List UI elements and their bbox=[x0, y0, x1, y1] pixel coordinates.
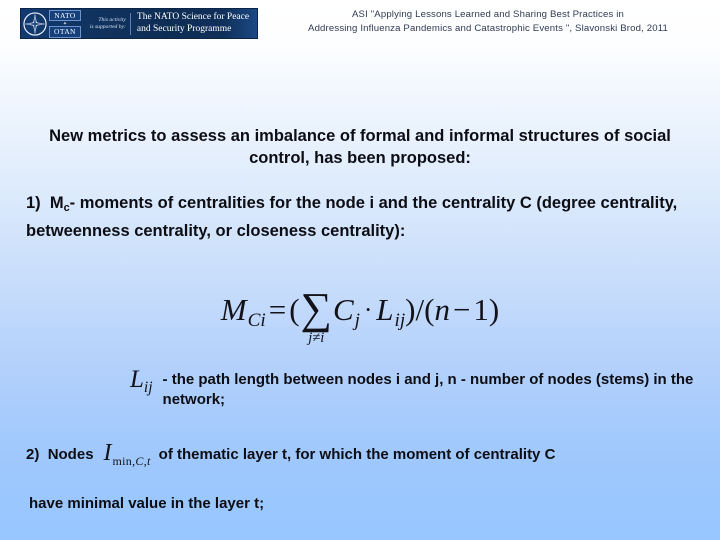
item1-symbol: Mc bbox=[45, 194, 69, 212]
imin-symbol: Imin,C,t bbox=[104, 440, 151, 469]
nato-otan-wordmark: NATO ✦ OTAN bbox=[49, 9, 81, 38]
slide-header: NATO ✦ OTAN This activity is supported b… bbox=[0, 0, 720, 52]
imin-sub-t: t bbox=[147, 454, 151, 468]
lij-definition-block: Lij - the path length between nodes i an… bbox=[130, 365, 710, 410]
programme-line-1: The NATO Science for Peace bbox=[137, 12, 258, 24]
formula-term-l-base: L bbox=[376, 290, 393, 330]
formula-row: MCi = ( ∑ j≠i Cj · Lij ) / ( n − 1 ) bbox=[221, 286, 500, 343]
item1-text: - moments of centralities for the node i… bbox=[26, 194, 677, 240]
sigma-icon: ∑ bbox=[301, 289, 332, 330]
lij-symbol-base: L bbox=[130, 366, 144, 393]
sigma-lower-limit: j≠i bbox=[308, 331, 324, 346]
item2-suffix-text: of thematic layer t, for which the momen… bbox=[159, 444, 556, 466]
formula-denominator-close-paren: ) bbox=[489, 290, 499, 330]
imin-sub-c: C bbox=[135, 454, 143, 468]
formula-equals: = bbox=[269, 290, 286, 330]
formula-term-c: Cj bbox=[333, 290, 360, 335]
list-item-1: 1) Mc- moments of centralities for the n… bbox=[26, 192, 698, 243]
lij-symbol: Lij bbox=[130, 365, 153, 397]
formula-term-l: Lij bbox=[376, 290, 405, 335]
programme-line-2: and Security Programme bbox=[137, 24, 258, 36]
formula-division-slash: / bbox=[415, 290, 424, 330]
formula-summation: ∑ j≠i bbox=[301, 289, 332, 346]
formula-close-paren: ) bbox=[405, 290, 415, 330]
imin-sub-min: min, bbox=[113, 454, 136, 468]
intro-paragraph: New metrics to assess an imbalance of fo… bbox=[28, 125, 692, 169]
nato-divider-star: ✦ bbox=[63, 22, 67, 26]
lij-definition-text: - the path length between nodes i and j,… bbox=[163, 365, 710, 410]
formula-denominator-minus: − bbox=[453, 290, 470, 330]
formula-denominator-open-paren: ( bbox=[424, 290, 434, 330]
conference-title-line-1: ASI "Applying Lessons Learned and Sharin… bbox=[262, 8, 714, 22]
imin-symbol-base: I bbox=[104, 440, 112, 466]
formula-denominator-one: 1 bbox=[473, 290, 489, 330]
item2-line-1: 2) Nodes Imin,C,t of thematic layer t, f… bbox=[26, 440, 706, 469]
nato-word-bottom: OTAN bbox=[49, 26, 81, 38]
formula-lhs-base: M bbox=[221, 290, 247, 330]
item1-symbol-base: M bbox=[50, 194, 64, 212]
item2-line-2: have minimal value in the layer t; bbox=[26, 494, 706, 514]
item1-number: 1) bbox=[26, 194, 41, 212]
nato-word-top: NATO bbox=[49, 10, 80, 22]
nato-compass-star-icon bbox=[22, 11, 48, 37]
conference-title-line-2: Addressing Influenza Pandemics and Catas… bbox=[262, 22, 714, 36]
activity-line-1: This activity bbox=[90, 17, 126, 24]
formula-term-c-base: C bbox=[333, 290, 354, 330]
formula-open-paren: ( bbox=[289, 290, 299, 330]
formula-term-l-subscript: ij bbox=[394, 301, 405, 341]
item2-prefix-word: Nodes bbox=[48, 446, 94, 463]
formula-lhs-subscript: Ci bbox=[248, 301, 266, 341]
nato-sps-banner: NATO ✦ OTAN This activity is supported b… bbox=[20, 8, 258, 39]
lij-symbol-subscript: ij bbox=[144, 379, 153, 396]
activity-line-2: is supported by: bbox=[90, 24, 126, 31]
banner-vertical-divider bbox=[130, 13, 131, 35]
nato-activity-supported-text: This activity is supported by: bbox=[90, 17, 130, 31]
conference-title: ASI "Applying Lessons Learned and Sharin… bbox=[262, 8, 714, 35]
formula-denominator-n: n bbox=[434, 290, 450, 330]
formula-multiplication-dot: · bbox=[364, 291, 372, 331]
list-item-2: 2) Nodes Imin,C,t of thematic layer t, f… bbox=[26, 440, 706, 514]
formula-term-c-subscript: j bbox=[355, 301, 360, 341]
item2-number-and-prefix: 2) Nodes bbox=[26, 444, 94, 466]
formula-lhs: MCi bbox=[221, 290, 266, 335]
formula-moment-of-centrality: MCi = ( ∑ j≠i Cj · Lij ) / ( n − 1 ) bbox=[0, 286, 720, 343]
item2-number: 2) bbox=[26, 446, 39, 463]
slide-canvas: NATO ✦ OTAN This activity is supported b… bbox=[0, 0, 720, 540]
imin-symbol-subscript: min,C,t bbox=[113, 448, 151, 474]
nato-programme-name: The NATO Science for Peace and Security … bbox=[137, 12, 258, 35]
